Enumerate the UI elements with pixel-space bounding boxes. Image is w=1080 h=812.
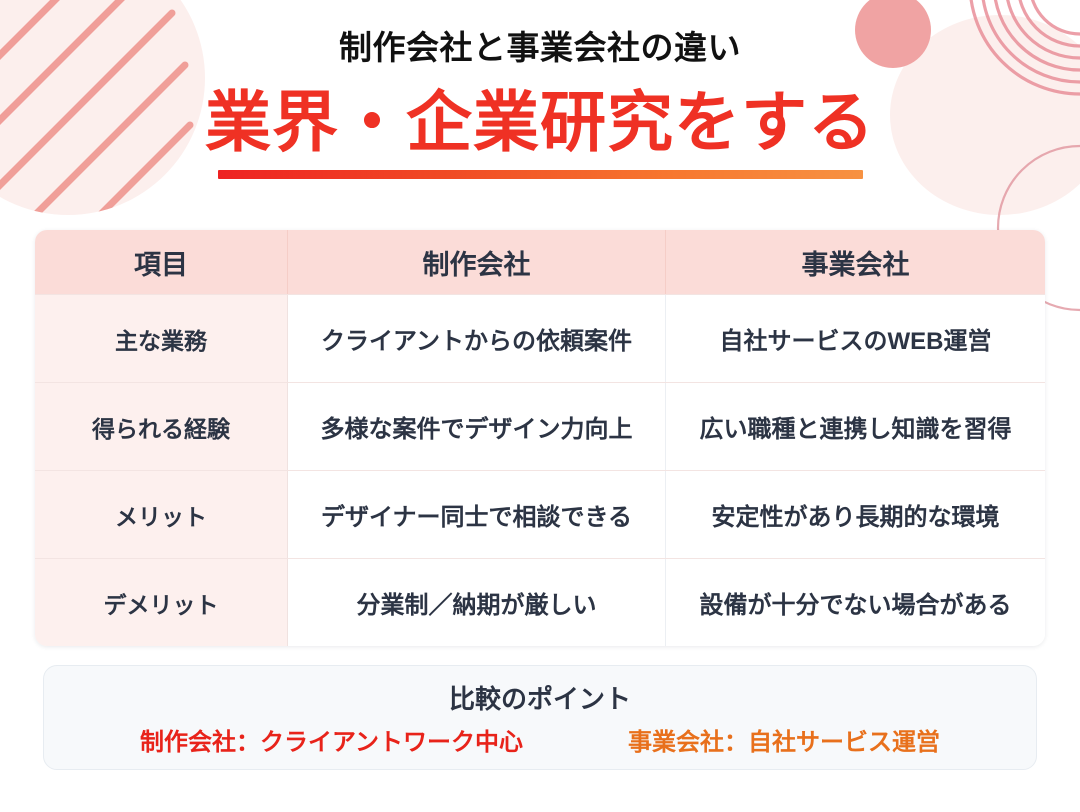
cell-business: 設備が十分でない場合がある	[665, 559, 1045, 646]
comparison-table: 項目 制作会社 事業会社 主な業務 クライアントからの依頼案件 自社サービスのW…	[35, 230, 1045, 646]
cell-business: 自社サービスのWEB運営	[665, 295, 1045, 382]
row-label: 主な業務	[35, 295, 287, 382]
cell-production: 多様な案件でデザイン力向上	[287, 383, 665, 470]
column-header-production-company: 制作会社	[287, 230, 665, 294]
table-row: 得られる経験 多様な案件でデザイン力向上 広い職種と連携し知識を習得	[35, 382, 1045, 470]
summary-box: 比較のポイント 制作会社：クライアントワーク中心 事業会社：自社サービス運営	[43, 665, 1037, 770]
table-header-row: 項目 制作会社 事業会社	[35, 230, 1045, 294]
row-label: 得られる経験	[35, 383, 287, 470]
page-title: 業界・企業研究をする	[0, 83, 1080, 161]
summary-point-business: 事業会社：自社サービス運営	[628, 728, 940, 758]
table-row: 主な業務 クライアントからの依頼案件 自社サービスのWEB運営	[35, 294, 1045, 382]
cell-production: クライアントからの依頼案件	[287, 295, 665, 382]
row-label: デメリット	[35, 559, 287, 646]
summary-title: 比較のポイント	[44, 683, 1036, 715]
summary-points: 制作会社：クライアントワーク中心 事業会社：自社サービス運営	[44, 728, 1036, 758]
cell-production: デザイナー同士で相談できる	[287, 471, 665, 558]
summary-point-production: 制作会社：クライアントワーク中心	[140, 728, 523, 758]
column-header-business-company: 事業会社	[665, 230, 1045, 294]
cell-production: 分業制／納期が厳しい	[287, 559, 665, 646]
cell-business: 広い職種と連携し知識を習得	[665, 383, 1045, 470]
table-row: メリット デザイナー同士で相談できる 安定性があり長期的な環境	[35, 470, 1045, 558]
row-label: メリット	[35, 471, 287, 558]
column-header-item: 項目	[35, 230, 287, 294]
table-row: デメリット 分業制／納期が厳しい 設備が十分でない場合がある	[35, 558, 1045, 646]
cell-business: 安定性があり長期的な環境	[665, 471, 1045, 558]
title-underline-bar	[218, 170, 863, 179]
slide-subtitle: 制作会社と事業会社の違い	[0, 28, 1080, 68]
